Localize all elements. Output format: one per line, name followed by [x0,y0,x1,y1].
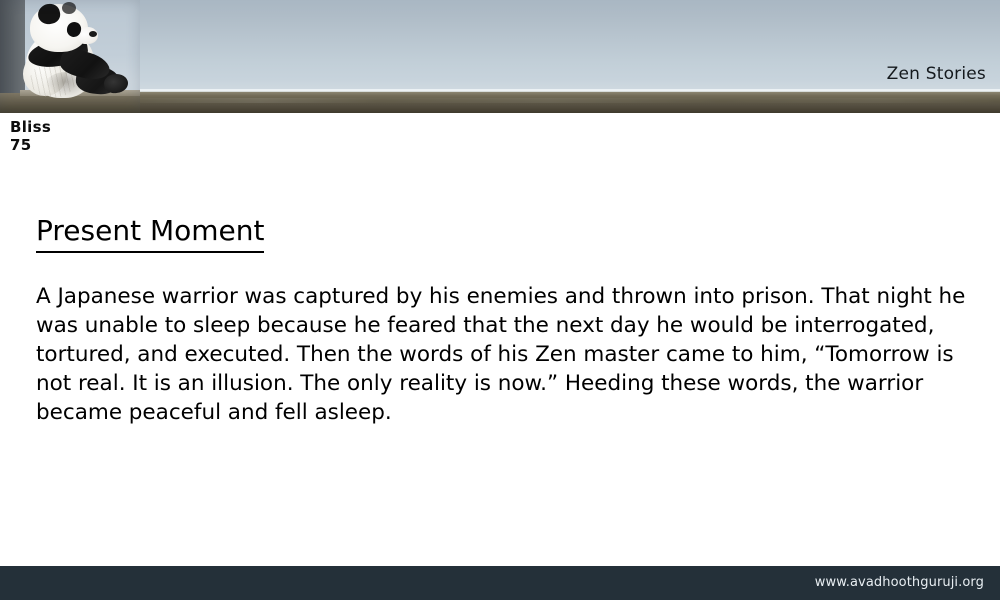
story-body-text: A Japanese warrior was captured by his e… [36,253,968,427]
panda-photo-vignette [0,0,140,113]
slide-meta: Bliss 75 [10,118,51,154]
meta-collection: Bliss [10,118,51,136]
slide-canvas: Zen Stories Bliss 75 Present Moment A Ja… [0,0,1000,600]
footer-website-url: www.avadhoothguruji.org [815,575,984,590]
story-title: Present Moment [36,214,264,253]
banner-ledge-band [0,92,1000,113]
banner-sky-gradient [0,0,1000,90]
slide-footer: www.avadhoothguruji.org [0,566,1000,600]
series-title: Zen Stories [887,64,986,84]
slide-header-banner: Zen Stories [0,0,1000,113]
panda-photo [0,0,140,113]
meta-number: 75 [10,136,51,154]
slide-content: Present Moment A Japanese warrior was ca… [36,214,976,427]
